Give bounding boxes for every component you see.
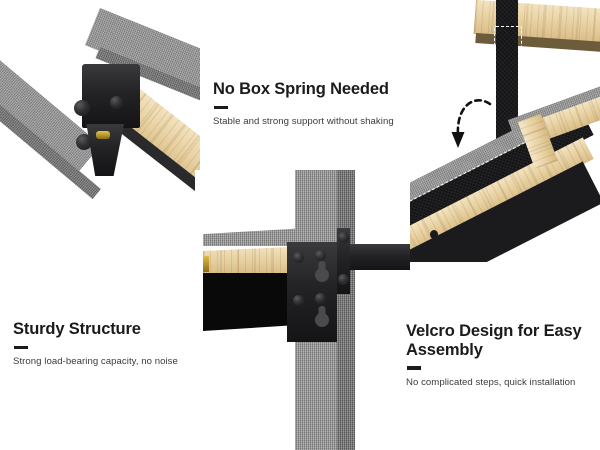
feature-subtitle: No complicated steps, quick installation: [406, 377, 596, 389]
brass-screw: [203, 256, 209, 272]
bracket-bolt-left: [74, 100, 90, 116]
corner-bracket-body: [82, 64, 140, 128]
post-strap-bolt-bottom: [338, 274, 349, 285]
title-underline-dash: [14, 346, 28, 350]
bracket-bolt-1: [293, 252, 304, 263]
center-bracket-photo: [195, 170, 410, 450]
infographic-canvas: No Box Spring Needed Stable and strong s…: [0, 0, 600, 450]
feature-subtitle: Stable and strong support without shakin…: [213, 116, 428, 128]
feature-no-box-spring: No Box Spring Needed Stable and strong s…: [213, 80, 428, 128]
velcro-strap-photo: [400, 0, 600, 262]
feature-sturdy-structure: Sturdy Structure Strong load-bearing cap…: [13, 320, 213, 368]
bracket-keyhole-1: [315, 268, 329, 282]
fabric-post-right-face: [337, 170, 355, 450]
title-underline-dash: [407, 366, 421, 370]
feature-title: No Box Spring Needed: [213, 80, 428, 99]
bracket-bolt-lower: [76, 134, 92, 150]
bracket-bolt-3: [293, 295, 304, 306]
title-underline-dash: [214, 106, 228, 110]
corner-bracket-photo: [0, 0, 200, 200]
feature-velcro-design: Velcro Design for Easy Assembly No compl…: [406, 322, 596, 389]
post-strap-bolt-top: [338, 232, 349, 243]
bracket-brass-screw: [96, 131, 110, 139]
support-bar: [350, 244, 410, 270]
feature-title: Sturdy Structure: [13, 320, 213, 339]
bracket-bolt-4: [315, 293, 326, 304]
bracket-keyhole-2: [315, 313, 329, 327]
bracket-bolt-upper: [110, 96, 123, 109]
bracket-bolt-2: [315, 250, 326, 261]
feature-title: Velcro Design for Easy Assembly: [406, 322, 596, 359]
feature-subtitle: Strong load-bearing capacity, no noise: [13, 356, 213, 368]
